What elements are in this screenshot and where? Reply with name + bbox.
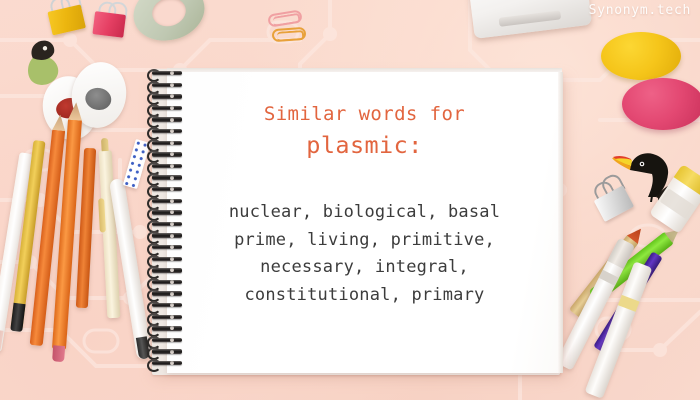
synonym-line: nuclear, biological, basal — [229, 199, 500, 227]
notepad: Similar words for plasmic: nuclear, biol… — [150, 72, 562, 375]
synonym-line: necessary, integral, — [229, 254, 500, 282]
desk-scene: Similar words for plasmic: nuclear, biol… — [0, 0, 700, 400]
synonym-list: nuclear, biological, basal prime, living… — [229, 199, 500, 309]
page-title: Similar words for plasmic: — [264, 102, 465, 161]
binder-clip-pink — [92, 6, 126, 38]
macaron-pink — [622, 78, 700, 148]
notepad-content: Similar words for plasmic: nuclear, biol… — [167, 72, 562, 373]
paperclip-orange — [272, 27, 307, 42]
site-watermark: Synonym.tech — [589, 3, 691, 18]
title-line-2: plasmic: — [264, 130, 465, 161]
synonym-line: prime, living, primitive, — [229, 227, 500, 255]
synonym-line: constitutional, primary — [229, 282, 500, 310]
title-line-1: Similar words for — [264, 102, 465, 127]
